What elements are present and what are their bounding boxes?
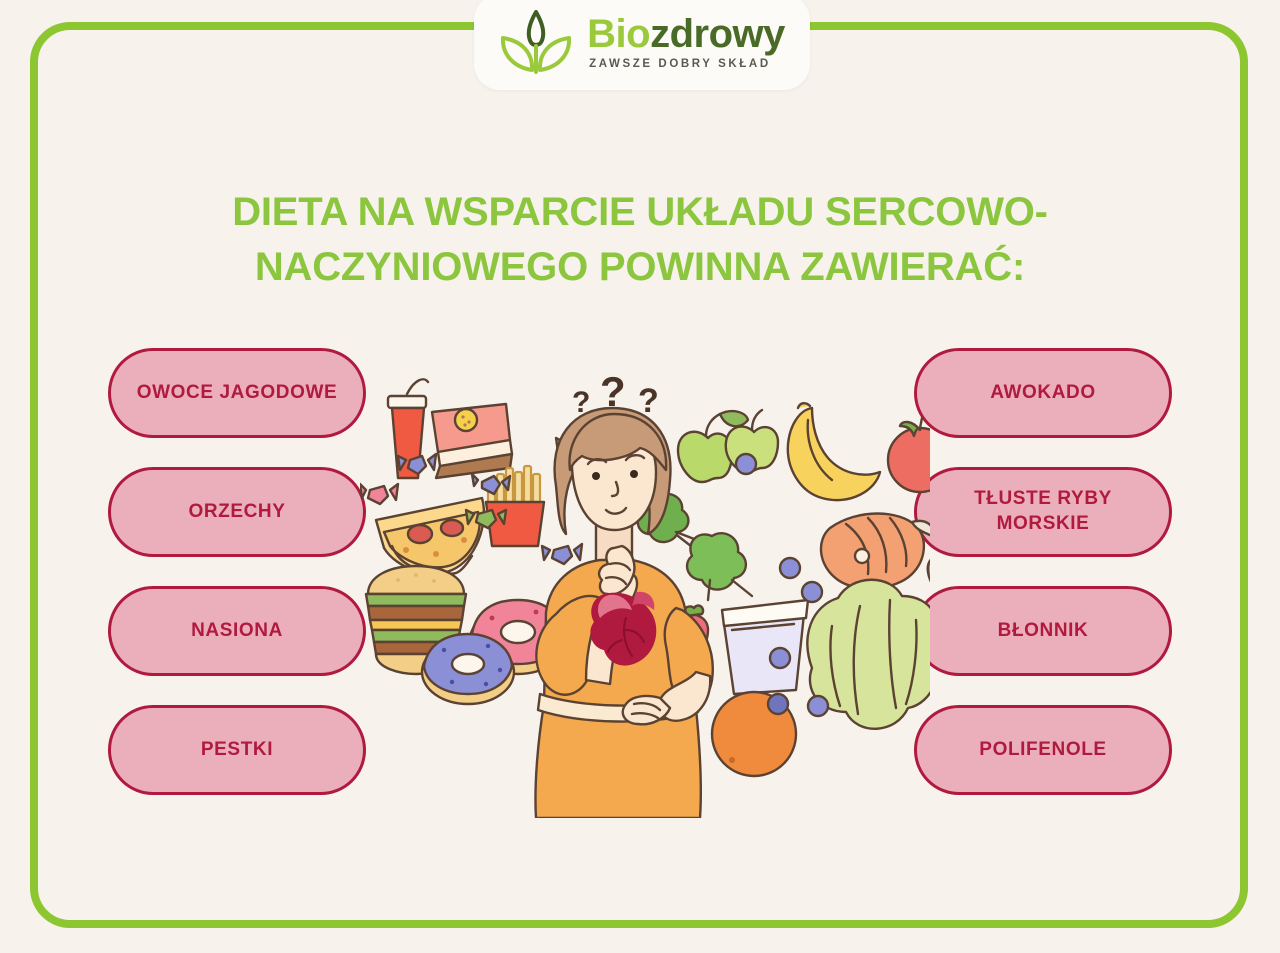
logo-word-primary: Bio bbox=[587, 12, 650, 56]
page-title: DIETA NA WSPARCIE UKŁADU SERCOWO-NACZYNI… bbox=[150, 185, 1130, 295]
pill-owoce-jagodowe[interactable]: OWOCE JAGODOWE bbox=[108, 348, 366, 438]
broccoli-icon bbox=[687, 533, 752, 600]
central-illustration: .ol{stroke:#5B4233;stroke-width:2.4;stro… bbox=[360, 368, 930, 818]
logo-word-secondary: zdrowy bbox=[650, 12, 785, 56]
logo-tagline: ZAWSZE DOBRY SKŁAD bbox=[589, 59, 771, 71]
pizza-slice-icon bbox=[376, 498, 484, 574]
logo-wordmark: Biozdrowy bbox=[587, 14, 785, 54]
pill-pestki[interactable]: PESTKI bbox=[108, 705, 366, 795]
left-pill-column: OWOCE JAGODOWE ORZECHY NASIONA PESTKI bbox=[108, 348, 366, 795]
cake-slice-icon bbox=[432, 404, 512, 478]
salmon-steak-icon bbox=[821, 514, 930, 589]
banana-icon bbox=[788, 403, 880, 500]
yogurt-cup-icon bbox=[722, 600, 808, 694]
tomato-icon bbox=[888, 418, 930, 492]
sprout-leaves-icon bbox=[499, 10, 573, 74]
blue-donut-icon bbox=[422, 634, 514, 704]
pill-nasiona[interactable]: NASIONA bbox=[108, 586, 366, 676]
pill-orzechy[interactable]: ORZECHY bbox=[108, 467, 366, 557]
pill-blonnik[interactable]: BŁONNIK bbox=[914, 586, 1172, 676]
strawberry-icon bbox=[928, 546, 930, 598]
pill-polifenole[interactable]: POLIFENOLE bbox=[914, 705, 1172, 795]
pill-awokado[interactable]: AWOKADO bbox=[914, 348, 1172, 438]
brand-logo: Biozdrowy ZAWSZE DOBRY SKŁAD bbox=[474, 0, 810, 90]
pill-tluste-ryby-morskie[interactable]: TŁUSTE RYBY MORSKIE bbox=[914, 467, 1172, 557]
green-apple-icon bbox=[678, 410, 778, 482]
right-pill-column: AWOKADO TŁUSTE RYBY MORSKIE BŁONNIK POLI… bbox=[914, 348, 1172, 795]
